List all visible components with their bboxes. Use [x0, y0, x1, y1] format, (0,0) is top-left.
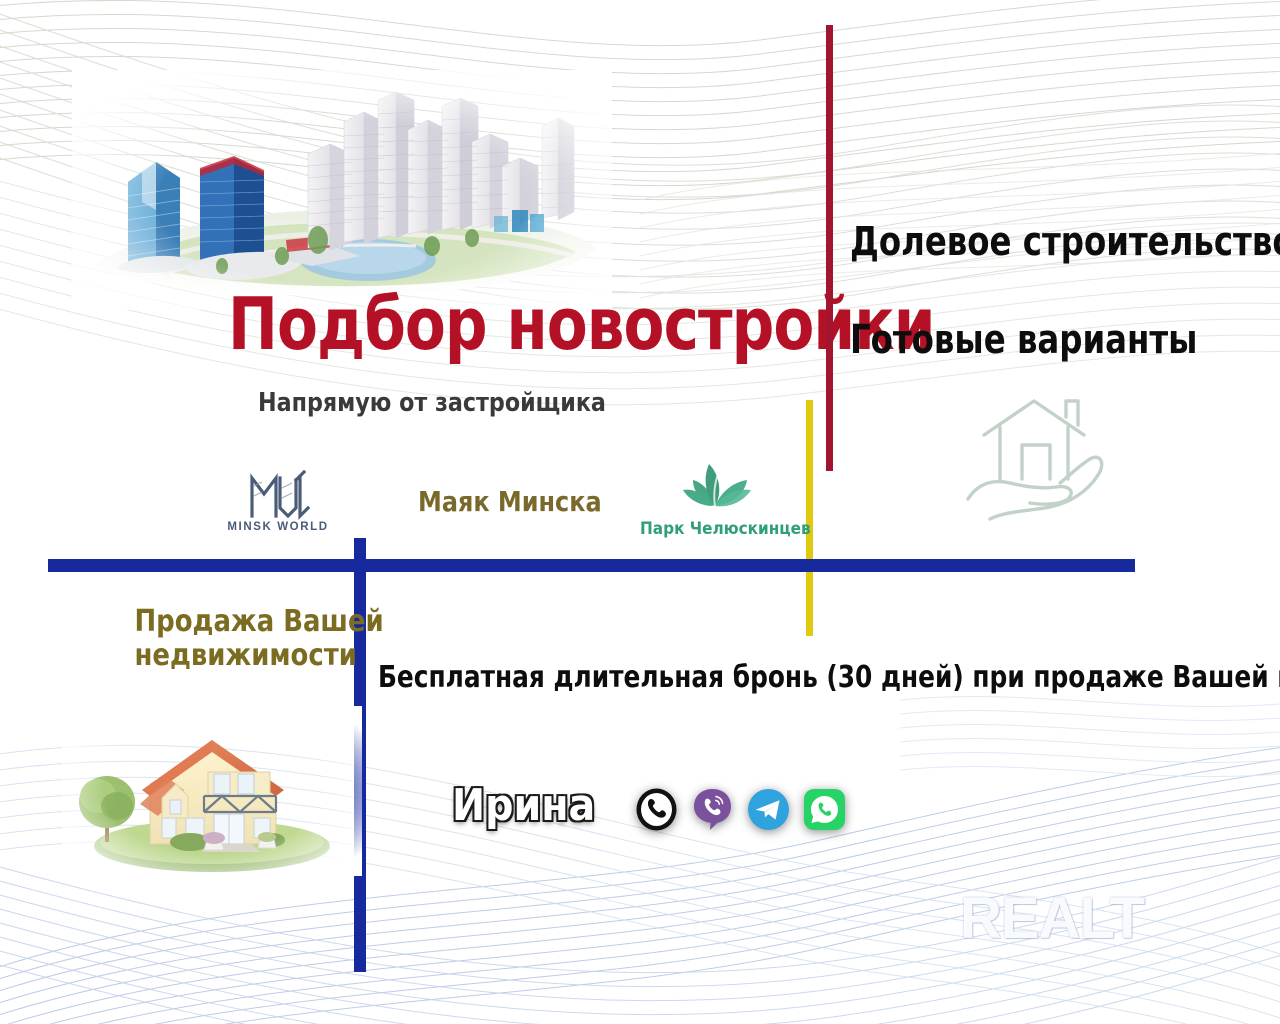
- horizontal-blue-divider: [48, 559, 1135, 572]
- promo-banner-text: Бесплатная длительная бронь (30 дней) пр…: [378, 663, 1280, 693]
- developer-name-mayak-minska: Маяк Минска: [418, 485, 602, 518]
- developer-name-park-chelyuskintsev: Парк Челюскинцев: [640, 521, 790, 538]
- agent-name: Ирина: [452, 784, 595, 828]
- offer-ready-options: Готовые варианты: [850, 320, 1197, 360]
- city-render-image: [72, 70, 612, 310]
- viber-icon[interactable]: [690, 787, 735, 832]
- minsk-world-monogram-icon: [222, 468, 334, 520]
- telegram-icon[interactable]: [746, 787, 791, 832]
- cottage-image: [62, 706, 362, 876]
- realt-watermark: REALT: [960, 890, 1144, 948]
- phone-icon[interactable]: [634, 787, 679, 832]
- offer-shared-construction: Долевое строительство: [850, 222, 1280, 262]
- developer-logo-park-chelyuskintsev: Парк Челюскинцев: [640, 452, 790, 538]
- advertisement-canvas: Подбор новостройки Напрямую от застройщи…: [0, 0, 1280, 1024]
- developer-name-minsk-world: MINSK WORLD: [222, 521, 334, 533]
- sell-your-property-heading: Продажа Вашей недвижимости: [134, 605, 349, 672]
- contact-channels: [634, 787, 847, 832]
- developer-logo-minsk-world: MINSK WORLD: [222, 468, 334, 540]
- whatsapp-icon[interactable]: [802, 787, 847, 832]
- park-chelyuskintsev-leaf-icon: [659, 452, 771, 514]
- vertical-yellow-divider: [806, 400, 813, 636]
- sell-heading-line1: Продажа Вашей: [134, 605, 349, 639]
- page-subtitle: Напрямую от застройщика: [258, 390, 606, 416]
- sell-heading-line2: недвижимости: [134, 639, 349, 673]
- developer-logo-mayak-minska: Маяк Минска: [418, 488, 602, 516]
- vertical-crimson-divider: [826, 25, 833, 471]
- house-in-hand-icon: [960, 395, 1120, 535]
